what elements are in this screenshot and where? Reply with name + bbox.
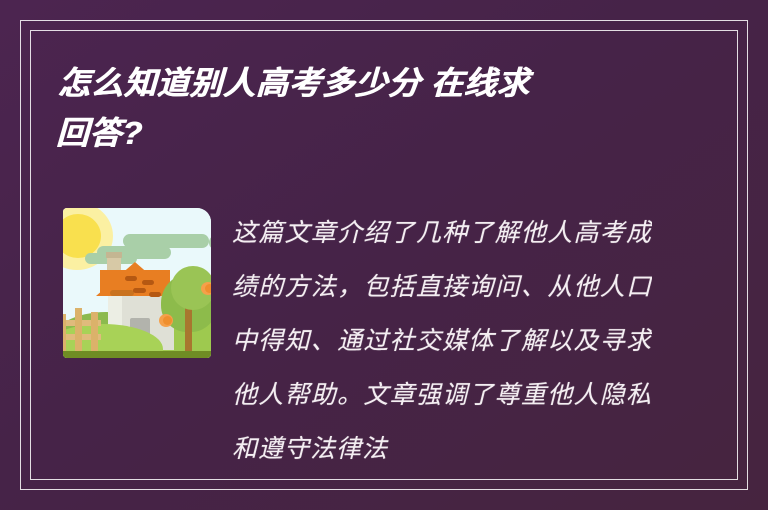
chimney-cap [106, 252, 122, 258]
roof-tile [133, 288, 146, 293]
page-title-line-2: 回答? [55, 108, 677, 158]
tree-trunk [185, 304, 192, 354]
ground-strip [63, 351, 211, 358]
fruit-icon-shade [205, 284, 211, 293]
roof-tile [125, 276, 137, 281]
page-title-line-1: 怎么知道别人高考多少分 在线求 [57, 58, 679, 108]
fence-post [75, 308, 82, 352]
roof-tile [142, 280, 154, 285]
article-cover-card: 怎么知道别人高考多少分 在线求 回答? [0, 0, 768, 510]
fence-post [91, 312, 98, 352]
roof-ridge [110, 290, 134, 296]
house-landscape-illustration [63, 208, 211, 358]
roof-tile [149, 292, 161, 297]
page-title: 怎么知道别人高考多少分 在线求 回答? [55, 58, 678, 158]
article-summary-text: 这篇文章介绍了几种了解他人高考成绩的方法，包括直接询问、从他人口中得知、通过社交… [232, 206, 652, 476]
fence-post [63, 314, 66, 352]
fruit-icon-shade [163, 316, 172, 325]
